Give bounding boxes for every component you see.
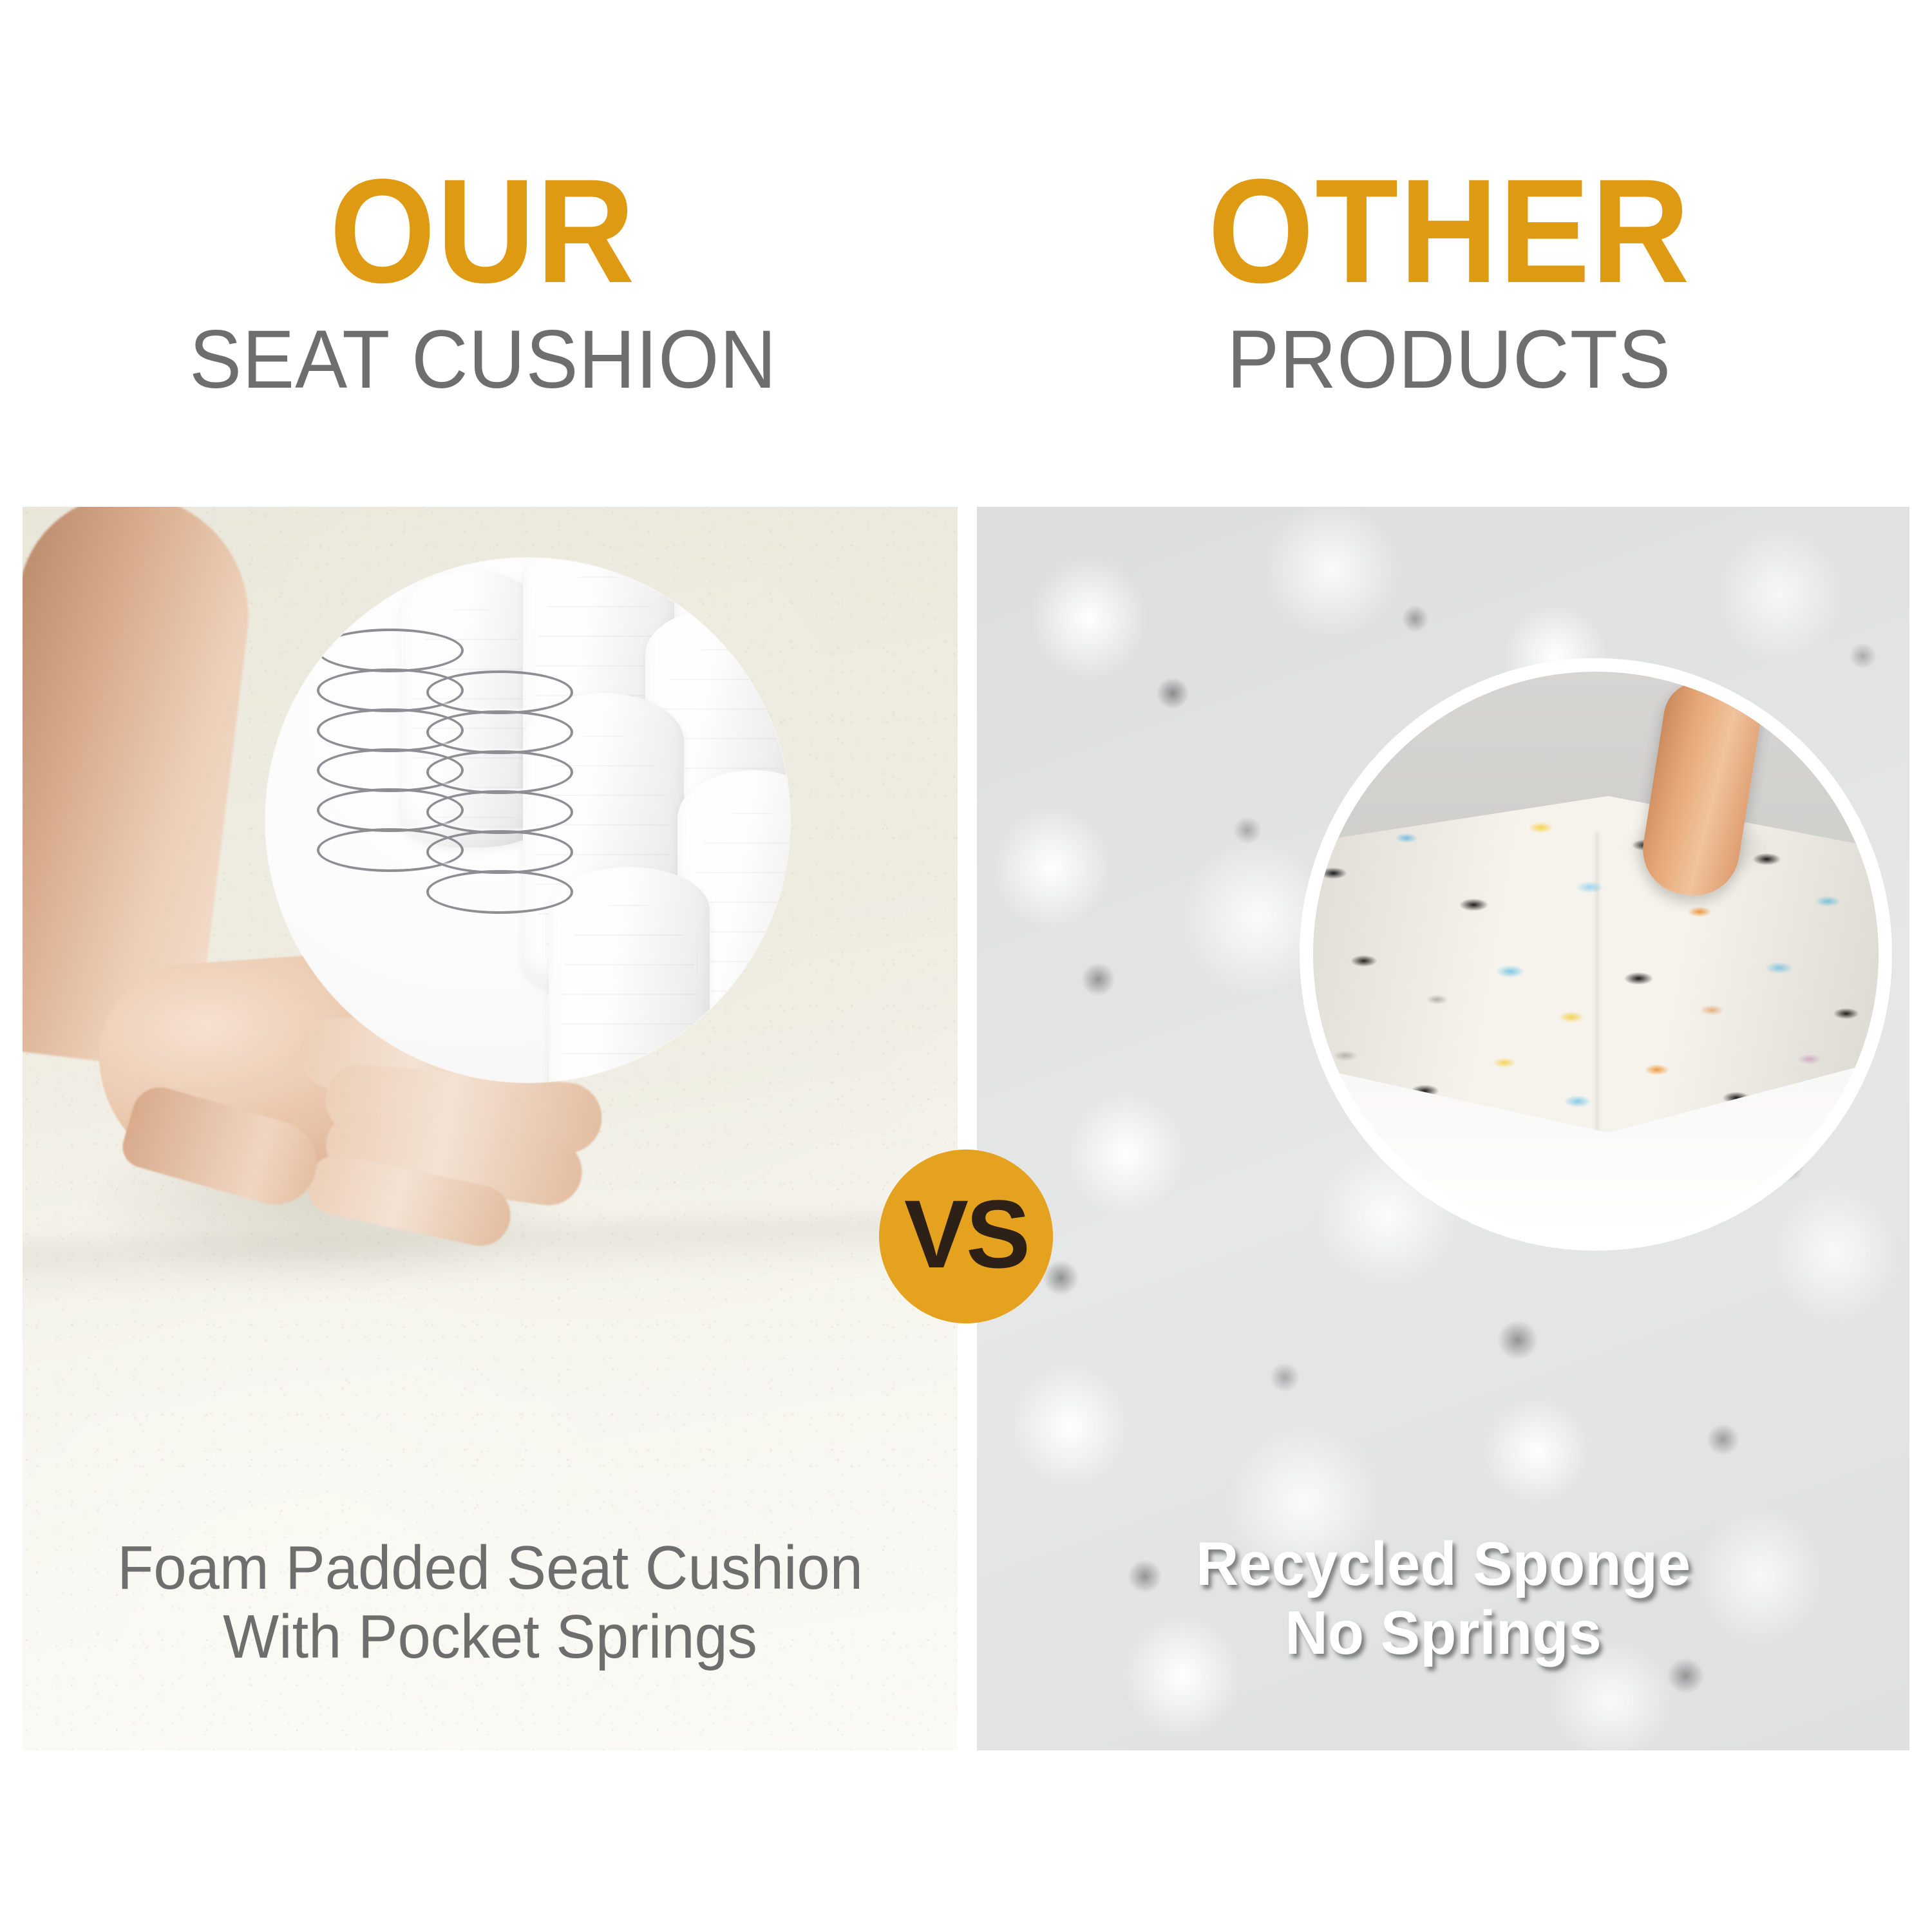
rebonded-foam-block: [1300, 796, 1892, 1146]
header-column-other: OTHER PRODUCTS: [966, 0, 1932, 507]
caption-our-product: Foam Padded Seat Cushion With Pocket Spr…: [41, 1533, 939, 1672]
vs-badge: VS: [879, 1150, 1053, 1323]
header-subtitle-products: PRODUCTS: [1227, 319, 1671, 401]
coil-ring: [317, 629, 464, 672]
header-subtitle-seat-cushion: SEAT CUSHION: [189, 319, 777, 401]
header-row: OUR SEAT CUSHION OTHER PRODUCTS: [0, 0, 1932, 507]
foam-block-shading: [1300, 796, 1892, 1146]
coil-ring: [426, 750, 573, 794]
caption-other-product: Recycled Sponge No Springs: [996, 1529, 1891, 1668]
coil-ring: [426, 870, 573, 914]
comparison-panels: Foam Padded Seat Cushion With Pocket Spr…: [23, 507, 1909, 1750]
vs-badge-label: VS: [904, 1186, 1028, 1282]
coil-ring: [426, 830, 573, 874]
panel-other-products: Recycled Sponge No Springs: [977, 507, 1909, 1750]
header-title-our: OUR: [330, 169, 636, 293]
coil-ring: [426, 790, 573, 834]
pocket-spring-sleeve: [549, 867, 710, 1083]
header-title-other: OTHER: [1207, 169, 1690, 293]
coil-ring: [426, 670, 573, 714]
coil-ring: [426, 710, 573, 754]
inset-circle-pocket-springs: [265, 558, 790, 1083]
metal-coil-spring: [426, 670, 568, 902]
inset-circle-recycled-sponge: [1300, 658, 1892, 1251]
header-column-our: OUR SEAT CUSHION: [0, 0, 966, 507]
panel-our-seat-cushion: Foam Padded Seat Cushion With Pocket Spr…: [23, 507, 958, 1750]
